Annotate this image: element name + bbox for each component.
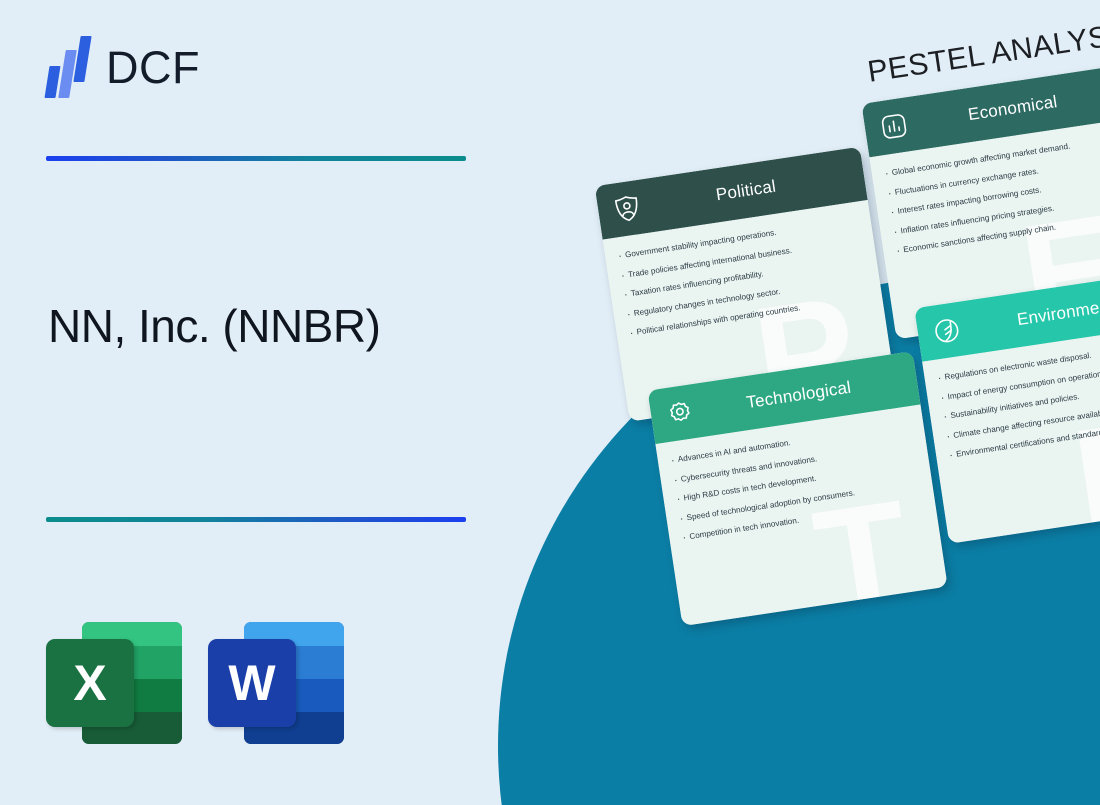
bullet-list-technological: Advances in AI and automation. Cybersecu… (670, 420, 922, 543)
divider-top (46, 156, 466, 161)
gear-icon (663, 396, 697, 430)
card-body-technological: T Advances in AI and automation. Cyberse… (655, 404, 947, 626)
pestel-card-grid: Political P Government stability impacti… (588, 62, 1100, 570)
bullet-list-political: Government stability impacting operation… (618, 216, 870, 339)
pestel-card-environment: Environment E Regulations on electronic … (914, 269, 1100, 544)
bar-chart-icon (877, 109, 911, 143)
pestel-card-technological: Technological T Advances in AI and autom… (647, 351, 947, 626)
word-file-icon[interactable]: W (208, 622, 344, 744)
shield-person-icon (610, 192, 644, 226)
brand-logo[interactable]: DCF (46, 36, 200, 98)
leaf-icon (930, 314, 964, 348)
bullet-list-environment: Regulations on electronic waste disposal… (937, 338, 1100, 461)
divider-bottom (46, 517, 466, 522)
left-info-panel: DCF NN, Inc. (NNBR) X W (0, 0, 520, 805)
brand-logo-text: DCF (106, 45, 200, 90)
excel-badge-letter: X (46, 639, 134, 727)
bullet-list-economical: Global economic growth affecting market … (884, 133, 1100, 256)
three-bars-logo-icon (46, 36, 92, 98)
word-badge-letter: W (208, 639, 296, 727)
excel-file-icon[interactable]: X (46, 622, 182, 744)
page-title: NN, Inc. (NNBR) (48, 300, 478, 353)
download-format-icons: X W (46, 622, 344, 744)
